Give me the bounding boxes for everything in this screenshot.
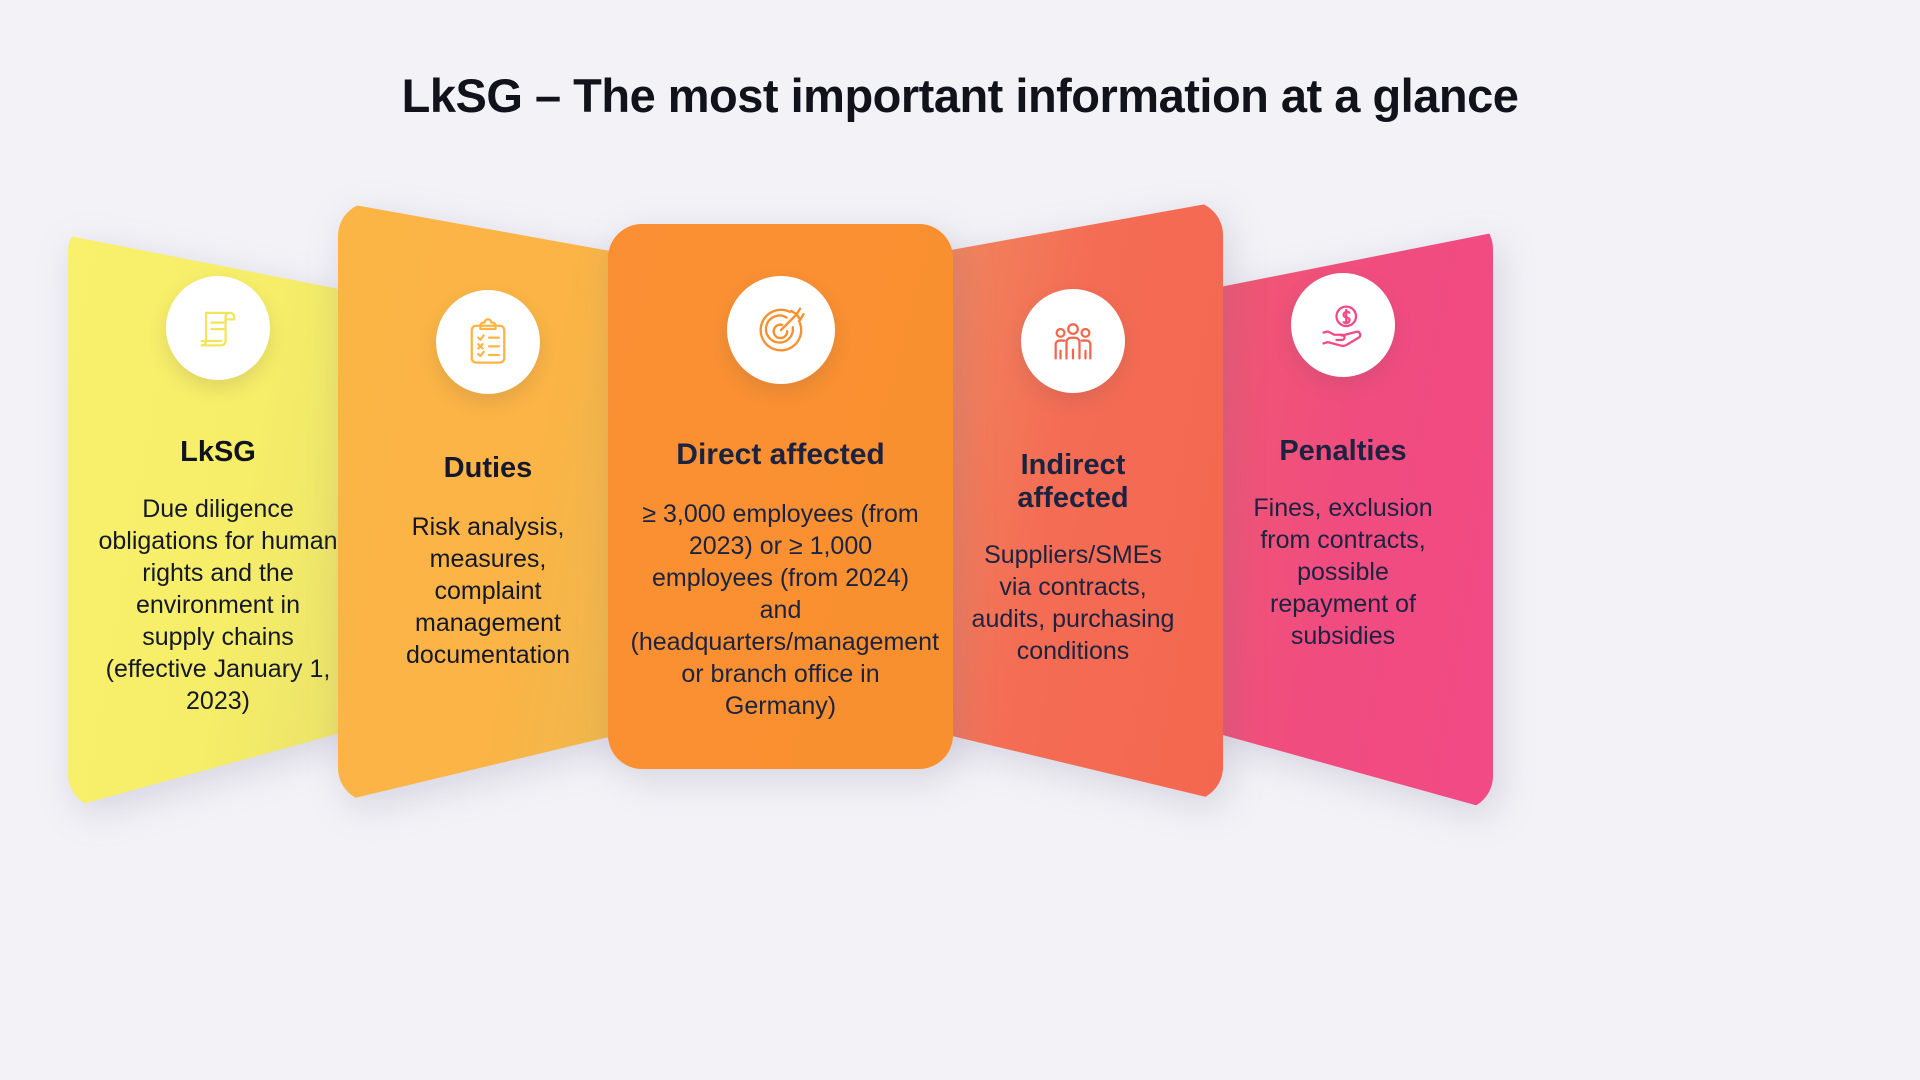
card-indirect-affected[interactable]: Indirect affected Suppliers/SMEs via con…: [923, 201, 1223, 801]
page-title: LkSG – The most important information at…: [0, 68, 1920, 123]
card-penalties[interactable]: Penalties Fines, exclusion from contract…: [1193, 215, 1493, 810]
card-title-indirect-affected: Indirect affected: [978, 449, 1168, 515]
card-direct-affected[interactable]: Direct affected ≥ 3,000 employees (from …: [608, 224, 953, 769]
card-duties[interactable]: Duties Risk analysis, measures, complain…: [338, 202, 638, 802]
hand-holding-money-icon: [1291, 273, 1395, 377]
card-title-penalties: Penalties: [1279, 435, 1406, 468]
clipboard-checklist-icon: [436, 290, 540, 394]
card-body-indirect-affected: Suppliers/SMEs via contracts, audits, pu…: [968, 539, 1178, 667]
card-body-penalties: Fines, exclusion from contracts, possibl…: [1236, 492, 1451, 652]
card-body-direct-affected: ≥ 3,000 employees (from 2023) or ≥ 1,000…: [631, 498, 931, 722]
card-body-duties: Risk analysis, measures, complaint manag…: [381, 511, 596, 671]
card-title-duties: Duties: [444, 452, 533, 485]
card-lksg[interactable]: LkSG Due diligence obligations for human…: [68, 218, 368, 808]
infographic-card-row: LkSG Due diligence obligations for human…: [0, 210, 1920, 1010]
target-dartboard-icon: [727, 276, 835, 384]
scroll-document-icon: [166, 276, 270, 380]
group-of-people-icon: [1021, 289, 1125, 393]
card-body-lksg: Due diligence obligations for human righ…: [98, 493, 338, 717]
card-title-direct-affected: Direct affected: [676, 438, 884, 472]
card-title-lksg: LkSG: [180, 436, 256, 469]
